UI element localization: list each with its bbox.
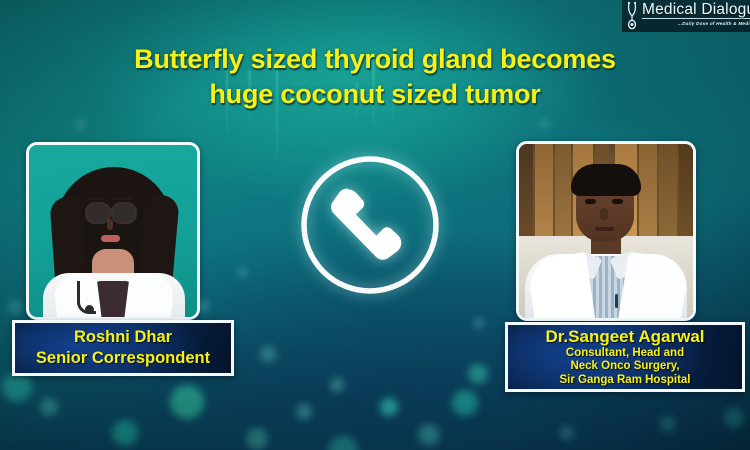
participant-role-line-3: Sir Ganga Ram Hospital [559,374,690,387]
cabinet-slat [679,144,693,240]
participant-name: Dr.Sangeet Agarwal [545,327,704,347]
phone-call-icon [297,152,443,298]
participant-role-line-1: Consultant, Head and [566,347,684,360]
eye-left [585,199,596,204]
nose [600,208,608,220]
cabinet-slat [639,144,657,240]
pocket-pen [615,294,618,308]
cabinet-slat [659,144,677,240]
eye-right [612,199,623,204]
roshni-dhar-photo [26,142,200,320]
participant-role-line-2: Neck Onco Surgery, [570,360,679,373]
dr-sangeet-agarwal-photo-content [519,144,693,318]
dr-sangeet-agarwal-photo [516,141,696,321]
page-title-line-1: Butterfly sized thyroid gland becomes [0,42,750,77]
cabinet-slat [555,144,571,240]
stethoscope-icon [625,1,641,31]
name-plate-right: Dr.Sangeet Agarwal Consultant, Head and … [505,322,745,392]
page-title-line-2: huge coconut sized tumor [0,77,750,112]
brand-name: Medical Dialogues [642,2,750,17]
brand-logo-text: Medical Dialogues ...Daily Dose of Healt… [642,2,750,26]
brand-tagline: ...Daily Dose of Health & Medicine [642,21,750,26]
nose [107,219,113,230]
brand-underline [642,18,750,19]
eyeglass-lens-right [111,202,137,224]
video-thumbnail-canvas: Medical Dialogues ...Daily Dose of Healt… [0,0,750,450]
name-plate-left: Roshni Dhar Senior Correspondent [12,320,234,376]
participant-name: Roshni Dhar [74,327,172,348]
eyebrow-left [86,197,105,200]
stethoscope-chestpiece [85,305,94,314]
eyebrow-right [113,197,132,200]
cabinet-slat [535,144,553,240]
cabinet-slat [519,144,533,240]
page-title: Butterfly sized thyroid gland becomes hu… [0,42,750,112]
mouth [595,227,614,231]
roshni-dhar-photo-content [29,145,197,317]
participant-role: Senior Correspondent [36,348,210,369]
brand-logo[interactable]: Medical Dialogues ...Daily Dose of Healt… [622,0,750,32]
lips [101,235,120,242]
eyeglass-bridge [106,208,112,210]
hair [571,164,641,196]
